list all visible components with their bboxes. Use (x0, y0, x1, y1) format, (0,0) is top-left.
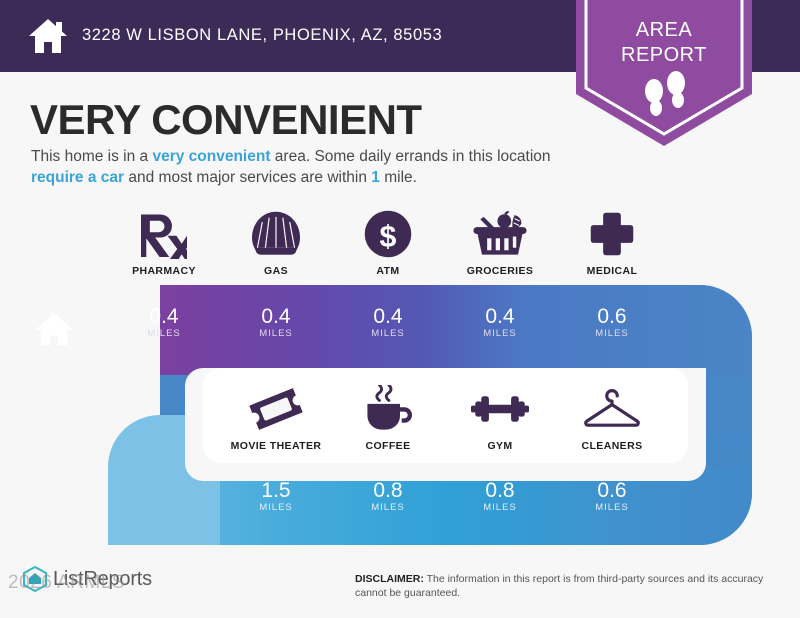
distance-cell-home (0, 296, 108, 362)
coffee-icon (332, 380, 444, 438)
rx-icon (108, 205, 220, 263)
distance-cell-gas: 0.4 MILES (220, 296, 332, 362)
ticket-icon (220, 380, 332, 438)
distance-cell-groceries: 0.4 MILES (444, 296, 556, 362)
dumbbell-icon (444, 380, 556, 438)
distance-cell-coffee: 0.8 MILES (332, 470, 444, 536)
bottom-icon-row: MOVIE THEATER COFFEE (0, 380, 800, 470)
summary-text: This home is in a very convenient area. … (31, 146, 576, 188)
icon-cell-gas: GAS (220, 205, 332, 295)
icon-label: GYM (444, 440, 556, 452)
icon-label: GROCERIES (444, 265, 556, 277)
house-icon (33, 309, 75, 349)
icon-cell-atm: $ ATM (332, 205, 444, 295)
distance-cell-gym: 0.8 MILES (444, 470, 556, 536)
distance-unit: MILES (444, 328, 556, 339)
distance-cell-pharmacy: 0.4 MILES (108, 296, 220, 362)
distance-cell-cleaners: 0.6 MILES (556, 470, 668, 536)
area-report-badge: AREA REPORT (576, 0, 752, 146)
distance-unit: MILES (556, 328, 668, 339)
icon-cell-cleaners: CLEANERS (556, 380, 668, 470)
disclaimer-label: DISCLAIMER: (355, 573, 424, 585)
distance-unit: MILES (108, 328, 220, 339)
summary-highlight3: 1 (371, 169, 380, 186)
distance-cell-movie-theater: 1.5 MILES (220, 470, 332, 536)
summary-highlight2: require a car (31, 169, 124, 186)
icon-cell-groceries: GROCERIES (444, 205, 556, 295)
distance-cell-atm: 0.4 MILES (332, 296, 444, 362)
distance-unit: MILES (332, 328, 444, 339)
icon-label: PHARMACY (108, 265, 220, 277)
distance-value: 0.6 (556, 296, 668, 328)
property-address: 3228 W LISBON LANE, PHOENIX, AZ, 85053 (82, 26, 442, 45)
distance-value: 0.6 (556, 470, 668, 502)
dollar-icon: $ (332, 205, 444, 263)
basket-icon (444, 205, 556, 263)
armls-watermark: 2026 ARMLS (8, 572, 125, 594)
distance-value: 1.5 (220, 470, 332, 502)
distance-unit: MILES (332, 502, 444, 513)
top-icon-row: PHARMACY GAS $ (0, 205, 800, 295)
badge-label: AREA REPORT (576, 18, 752, 68)
cross-icon (556, 205, 668, 263)
icon-label: ATM (332, 265, 444, 277)
icon-label: MOVIE THEATER (220, 440, 332, 452)
distance-value: 0.4 (220, 296, 332, 328)
page-title: VERY CONVENIENT (30, 96, 422, 144)
badge-line2: REPORT (576, 43, 752, 68)
distance-value: 0.4 (444, 296, 556, 328)
icon-cell-medical: MEDICAL (556, 205, 668, 295)
house-icon (26, 14, 70, 58)
shell-icon (220, 205, 332, 263)
distance-value: 0.8 (332, 470, 444, 502)
summary-part3: and most major services are within (124, 169, 371, 186)
distance-unit: MILES (556, 502, 668, 513)
distance-unit: MILES (220, 502, 332, 513)
hanger-icon (556, 380, 668, 438)
distance-value: 0.4 (108, 296, 220, 328)
icon-cell-coffee: COFFEE (332, 380, 444, 470)
icon-cell-gym: GYM (444, 380, 556, 470)
svg-text:$: $ (380, 221, 397, 254)
distance-value: 0.8 (444, 470, 556, 502)
distance-value: 0.4 (332, 296, 444, 328)
area-report-page: 3228 W LISBON LANE, PHOENIX, AZ, 85053 A… (0, 0, 800, 618)
icon-label: COFFEE (332, 440, 444, 452)
icon-cell-pharmacy: PHARMACY (108, 205, 220, 295)
badge-line1: AREA (576, 18, 752, 43)
icon-label: MEDICAL (556, 265, 668, 277)
distance-unit: MILES (220, 328, 332, 339)
summary-part4: mile. (380, 169, 417, 186)
distance-unit: MILES (444, 502, 556, 513)
summary-part1: This home is in a (31, 148, 152, 165)
summary-part2: area. Some daily errands in this locatio… (271, 148, 551, 165)
disclaimer: DISCLAIMER: The information in this repo… (355, 572, 775, 600)
icon-label: GAS (220, 265, 332, 277)
distance-cell-medical: 0.6 MILES (556, 296, 668, 362)
summary-highlight1: very convenient (152, 148, 270, 165)
icon-cell-movie-theater: MOVIE THEATER (220, 380, 332, 470)
icon-label: CLEANERS (556, 440, 668, 452)
